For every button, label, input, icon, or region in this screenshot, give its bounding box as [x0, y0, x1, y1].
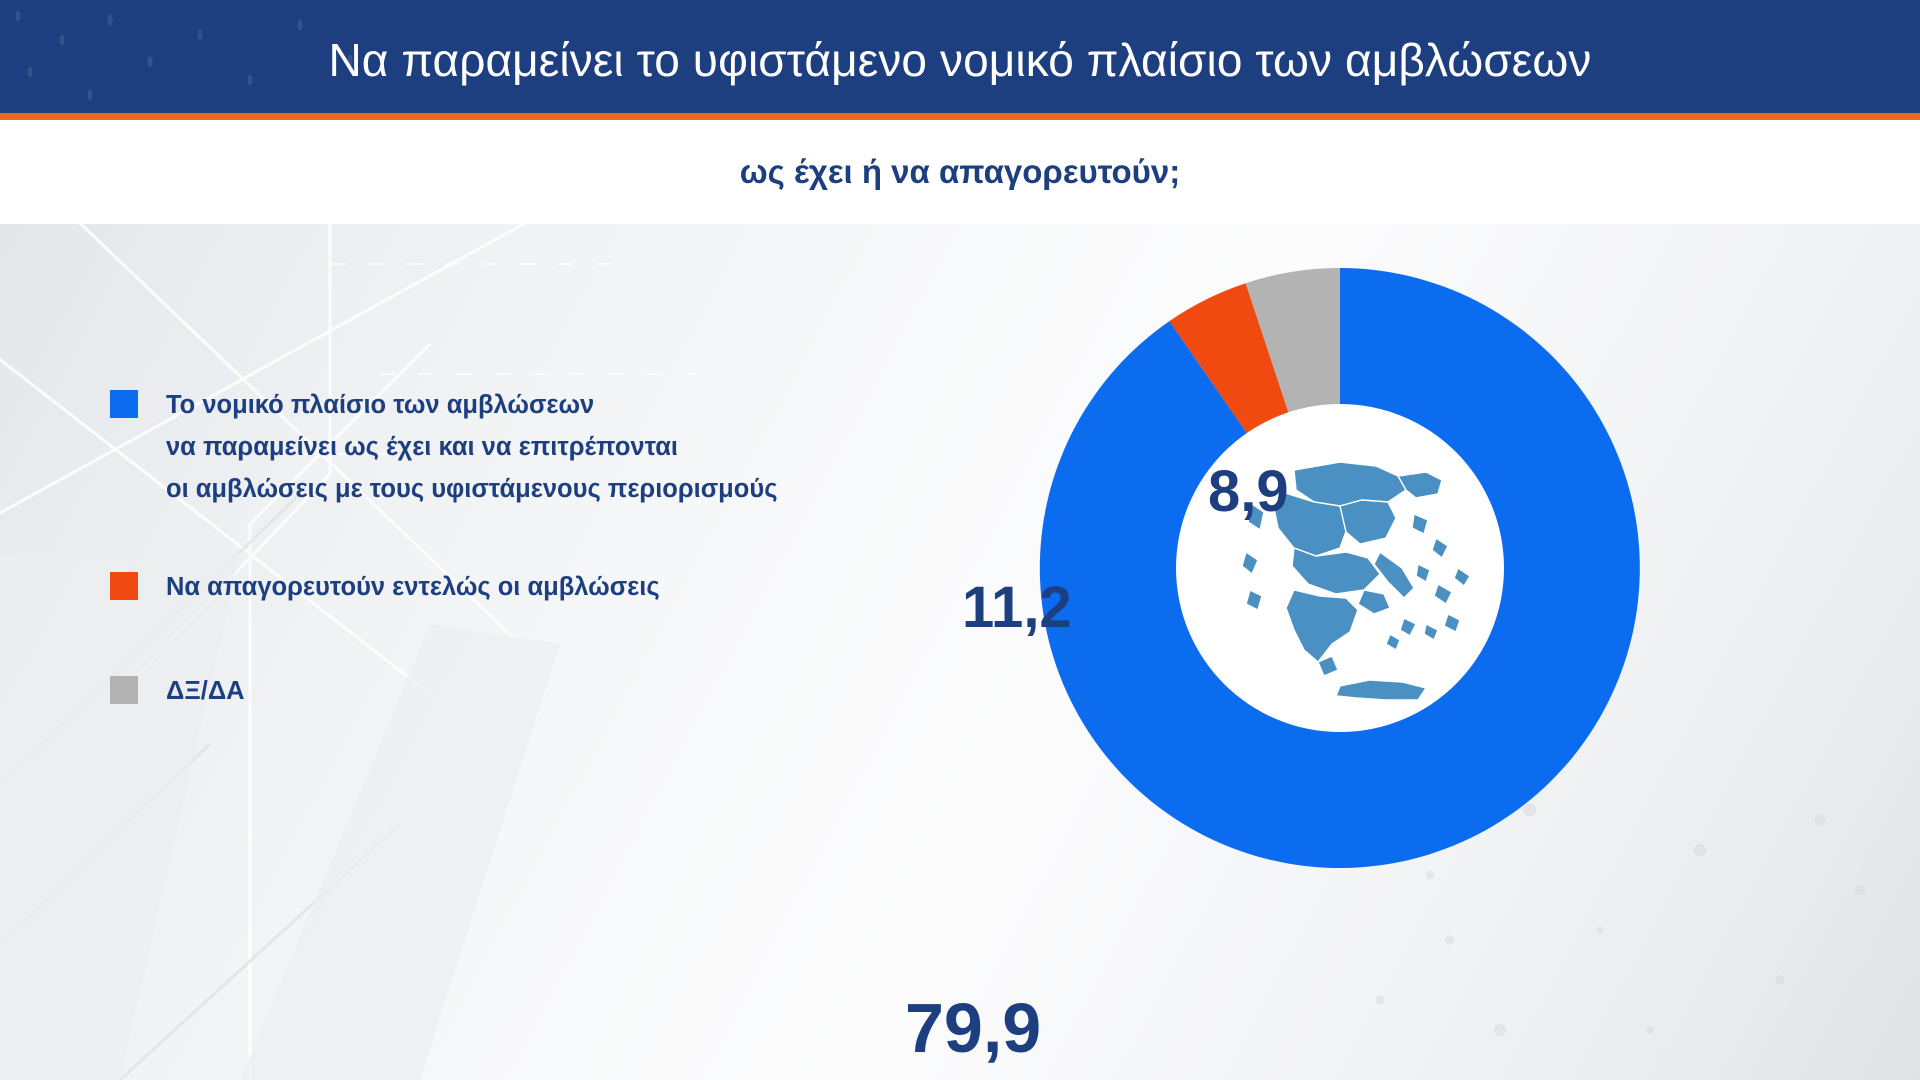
legend-label-line: οι αμβλώσεις με τους υφιστάμενους περιορ…	[166, 468, 777, 510]
page-title: Να παραμείνει το υφιστάμενο νομικό πλαίσ…	[0, 0, 1920, 113]
legend-item-keep-law[interactable]: Το νομικό πλαίσιο των αμβλώσεων να παραμ…	[110, 384, 1050, 510]
legend-swatch-red	[110, 572, 138, 600]
legend-item-dk-na[interactable]: ΔΞ/ΔΑ	[110, 670, 1050, 712]
legend-item-ban[interactable]: Να απαγορευτούν εντελώς οι αμβλώσεις	[110, 566, 1050, 608]
value-label-ban: 11,2	[962, 574, 1072, 641]
chart-body-area: Το νομικό πλαίσιο των αμβλώσεων να παραμ…	[0, 224, 1920, 1080]
value-label-dk-na: 8,9	[1208, 458, 1289, 525]
poll-graphic-slide: Να παραμείνει το υφιστάμενο νομικό πλαίσ…	[0, 0, 1920, 1080]
legend-swatch-blue	[110, 390, 138, 418]
legend-label-keep-law: Το νομικό πλαίσιο των αμβλώσεων να παραμ…	[166, 384, 777, 510]
legend-label-dk-na: ΔΞ/ΔΑ	[166, 670, 245, 712]
donut-chart	[1032, 260, 1648, 876]
subtitle-band: ως έχει ή να απαγορευτούν;	[0, 120, 1920, 224]
legend-label-line: Να απαγορευτούν εντελώς οι αμβλώσεις	[166, 566, 660, 608]
orange-divider-rule	[0, 113, 1920, 120]
legend-label-line: Το νομικό πλαίσιο των αμβλώσεων	[166, 384, 777, 426]
donut-center-hole	[1176, 404, 1504, 732]
page-subtitle: ως έχει ή να απαγορευτούν;	[740, 153, 1180, 191]
legend-swatch-gray	[110, 676, 138, 704]
chart-legend: Το νομικό πλαίσιο των αμβλώσεων να παραμ…	[110, 384, 1050, 712]
legend-label-line: να παραμείνει ως έχει και να επιτρέποντα…	[166, 426, 777, 468]
value-label-keep-law: 79,9	[905, 988, 1041, 1068]
legend-label-line: ΔΞ/ΔΑ	[166, 670, 245, 712]
legend-label-ban: Να απαγορευτούν εντελώς οι αμβλώσεις	[166, 566, 660, 608]
